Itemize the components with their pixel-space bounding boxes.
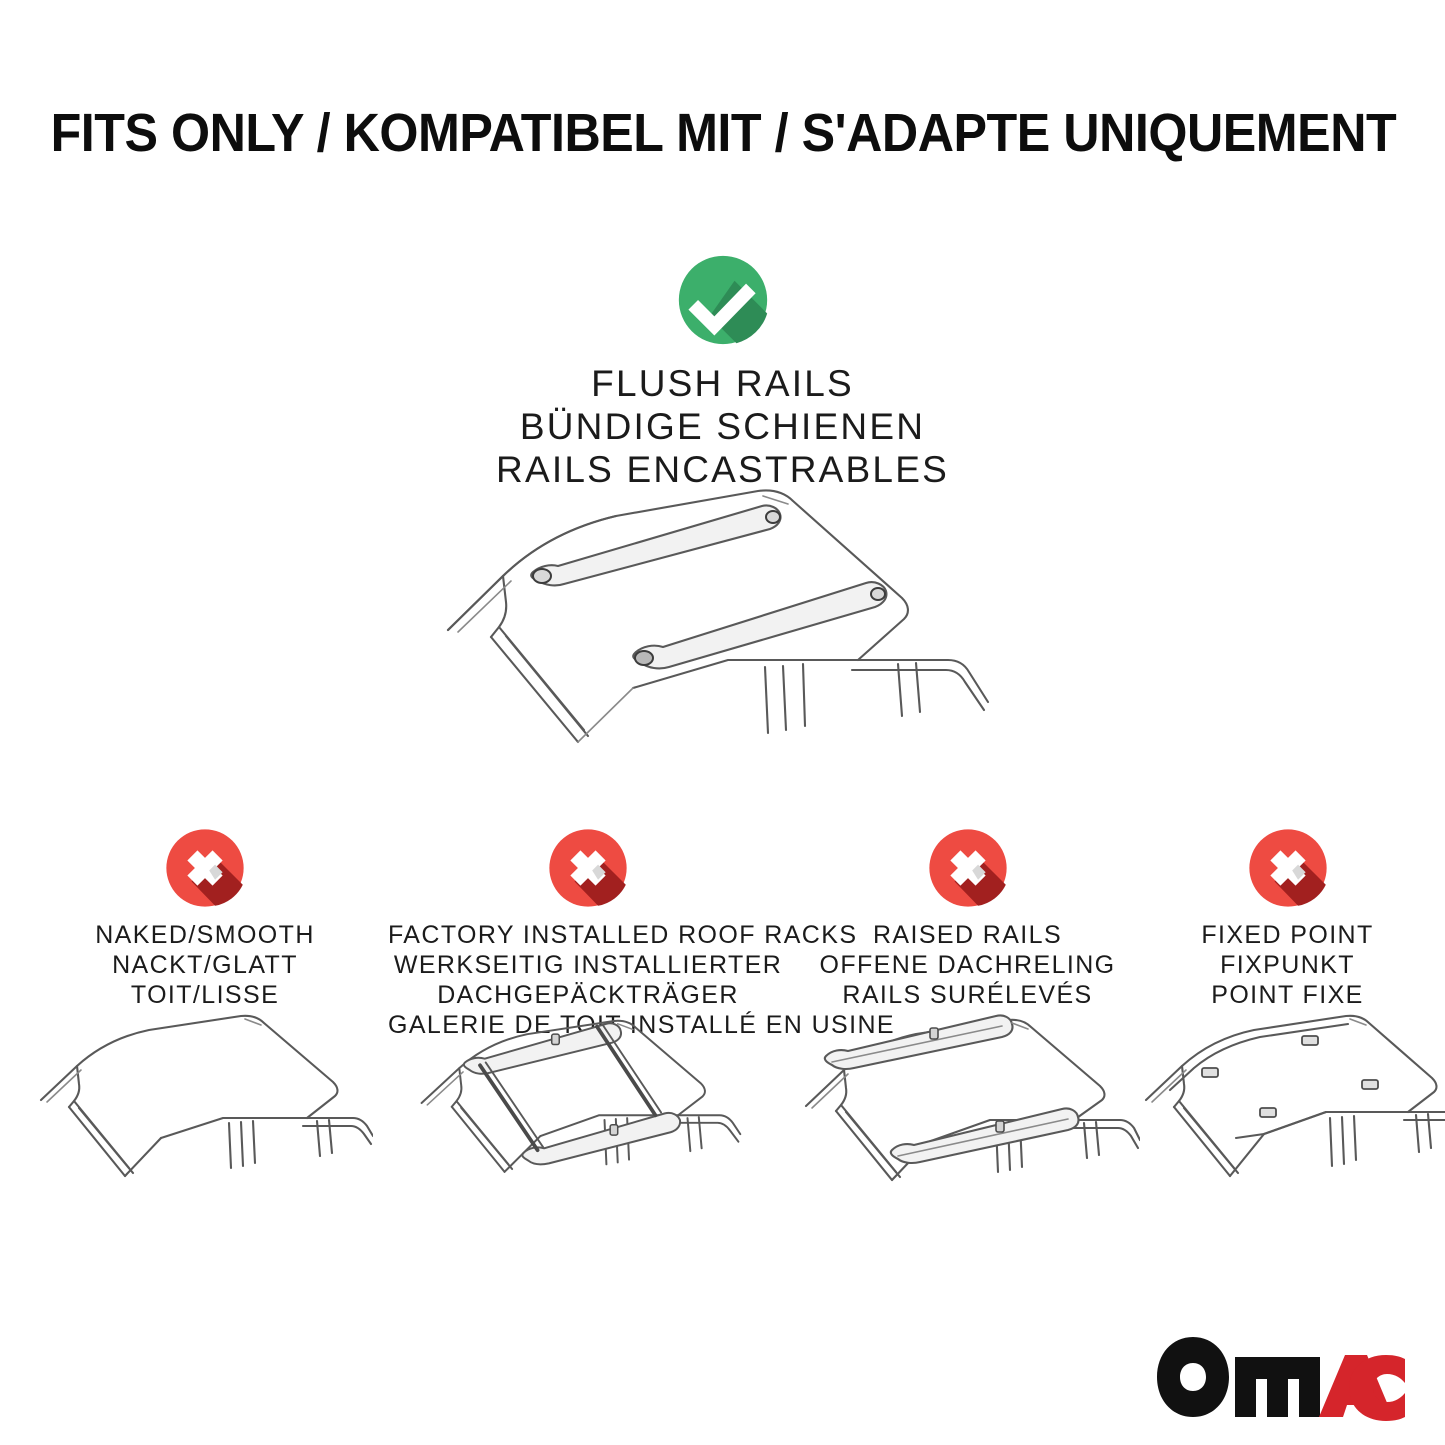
label-en: FIXED POINT bbox=[1145, 920, 1430, 950]
incompatible-item-fixed-point: FIXED POINT FIXPUNKT POINT FIXE bbox=[1145, 826, 1430, 1010]
x-circle-icon bbox=[546, 826, 630, 910]
compatible-section: FLUSH RAILS BÜNDIGE SCHIENEN RAILS ENCAS… bbox=[0, 252, 1445, 491]
car-roof-bare-illustration bbox=[33, 1008, 373, 1223]
label-en: FACTORY INSTALLED ROOF RACKS bbox=[388, 920, 788, 950]
incompatible-labels: NAKED/SMOOTH NACKT/GLATT TOIT/LISSE bbox=[35, 920, 375, 1010]
page-title: FITS ONLY / KOMPATIBEL MIT / S'ADAPTE UN… bbox=[51, 102, 1395, 164]
compatible-label-de: BÜNDIGE SCHIENEN bbox=[0, 405, 1445, 448]
incompatible-labels: RAISED RAILS OFFENE DACHRELING RAILS SUR… bbox=[800, 920, 1135, 1010]
label-de: NACKT/GLATT bbox=[35, 950, 375, 980]
compatible-labels: FLUSH RAILS BÜNDIGE SCHIENEN RAILS ENCAS… bbox=[0, 362, 1445, 491]
omac-logo bbox=[1155, 1333, 1405, 1425]
label-fr: POINT FIXE bbox=[1145, 980, 1430, 1010]
car-roof-fixed-point-illustration bbox=[1130, 1008, 1445, 1223]
car-roof-factory-racks-illustration bbox=[410, 1004, 750, 1219]
logo-letter-m bbox=[1235, 1357, 1320, 1417]
incompatible-item-raised-rails: RAISED RAILS OFFENE DACHRELING RAILS SUR… bbox=[800, 826, 1135, 1010]
label-de-1: WERKSEITIG INSTALLIERTER bbox=[388, 950, 788, 980]
check-circle-icon bbox=[675, 252, 771, 348]
label-de: FIXPUNKT bbox=[1145, 950, 1430, 980]
label-en: RAISED RAILS bbox=[800, 920, 1135, 950]
incompatible-section: NAKED/SMOOTH NACKT/GLATT TOIT/LISSE bbox=[0, 826, 1445, 1266]
label-fr: TOIT/LISSE bbox=[35, 980, 375, 1010]
car-roof-raised-rails-illustration bbox=[800, 1008, 1140, 1223]
compatible-label-en: FLUSH RAILS bbox=[0, 362, 1445, 405]
incompatible-item-factory-racks: FACTORY INSTALLED ROOF RACKS WERKSEITIG … bbox=[388, 826, 788, 1040]
label-fr: RAILS SURÉLEVÉS bbox=[800, 980, 1135, 1010]
car-roof-flush-rails-illustration bbox=[428, 480, 1018, 780]
x-circle-icon bbox=[926, 826, 1010, 910]
label-de: OFFENE DACHRELING bbox=[800, 950, 1135, 980]
label-en: NAKED/SMOOTH bbox=[35, 920, 375, 950]
incompatible-labels: FIXED POINT FIXPUNKT POINT FIXE bbox=[1145, 920, 1430, 1010]
x-circle-icon bbox=[163, 826, 247, 910]
logo-letter-o bbox=[1157, 1337, 1229, 1417]
x-circle-icon bbox=[1246, 826, 1330, 910]
incompatible-item-naked-smooth: NAKED/SMOOTH NACKT/GLATT TOIT/LISSE bbox=[35, 826, 375, 1010]
